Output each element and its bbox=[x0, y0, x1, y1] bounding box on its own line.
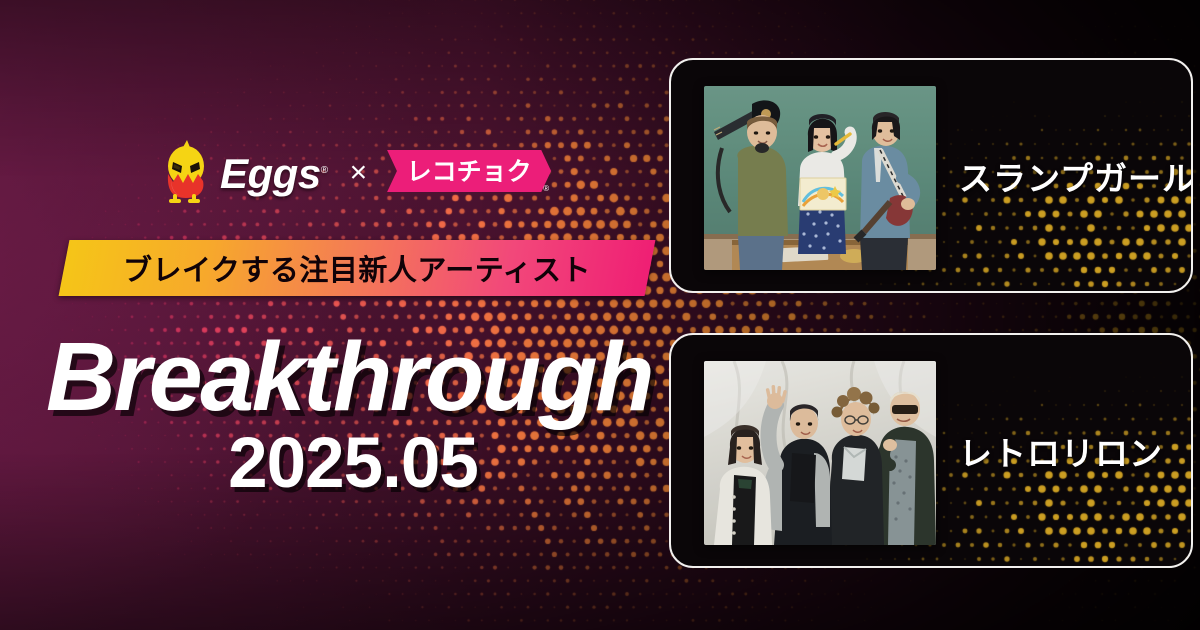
artist-photo bbox=[704, 86, 936, 270]
eggs-chick-icon bbox=[160, 138, 212, 204]
artist-card[interactable]: レトロリロン bbox=[669, 333, 1193, 568]
breakthrough-banner: Eggs® × レコチョク ® ブレイクする注目新人アーティスト Breakth… bbox=[0, 0, 1200, 630]
tagline-badge: ブレイクする注目新人アーティスト bbox=[64, 240, 650, 296]
left-content-column: Eggs® × レコチョク ® ブレイクする注目新人アーティスト Breakth… bbox=[0, 0, 660, 630]
recochoku-wordmark: レコチョク bbox=[407, 159, 532, 184]
artist-name: スランプガール bbox=[959, 60, 1193, 291]
recochoku-trademark: ® bbox=[543, 184, 549, 193]
artist-name: レトロリロン bbox=[959, 335, 1163, 566]
recochoku-logo: レコチョク ® bbox=[387, 150, 551, 192]
page-title: Breakthrough bbox=[46, 328, 660, 425]
eggs-trademark: ® bbox=[321, 165, 328, 176]
artist-card-list: スランプガール bbox=[664, 0, 1200, 630]
artist-photo bbox=[704, 361, 936, 545]
eggs-wordmark: Eggs® bbox=[220, 153, 328, 195]
issue-date: 2025.05 bbox=[46, 428, 660, 499]
cross-separator-icon: × bbox=[350, 158, 368, 188]
artist-card[interactable]: スランプガール bbox=[669, 58, 1193, 293]
logo-lockup: Eggs® × レコチョク ® bbox=[160, 138, 551, 204]
tagline-badge-label: ブレイクする注目新人アーティスト bbox=[64, 240, 650, 296]
